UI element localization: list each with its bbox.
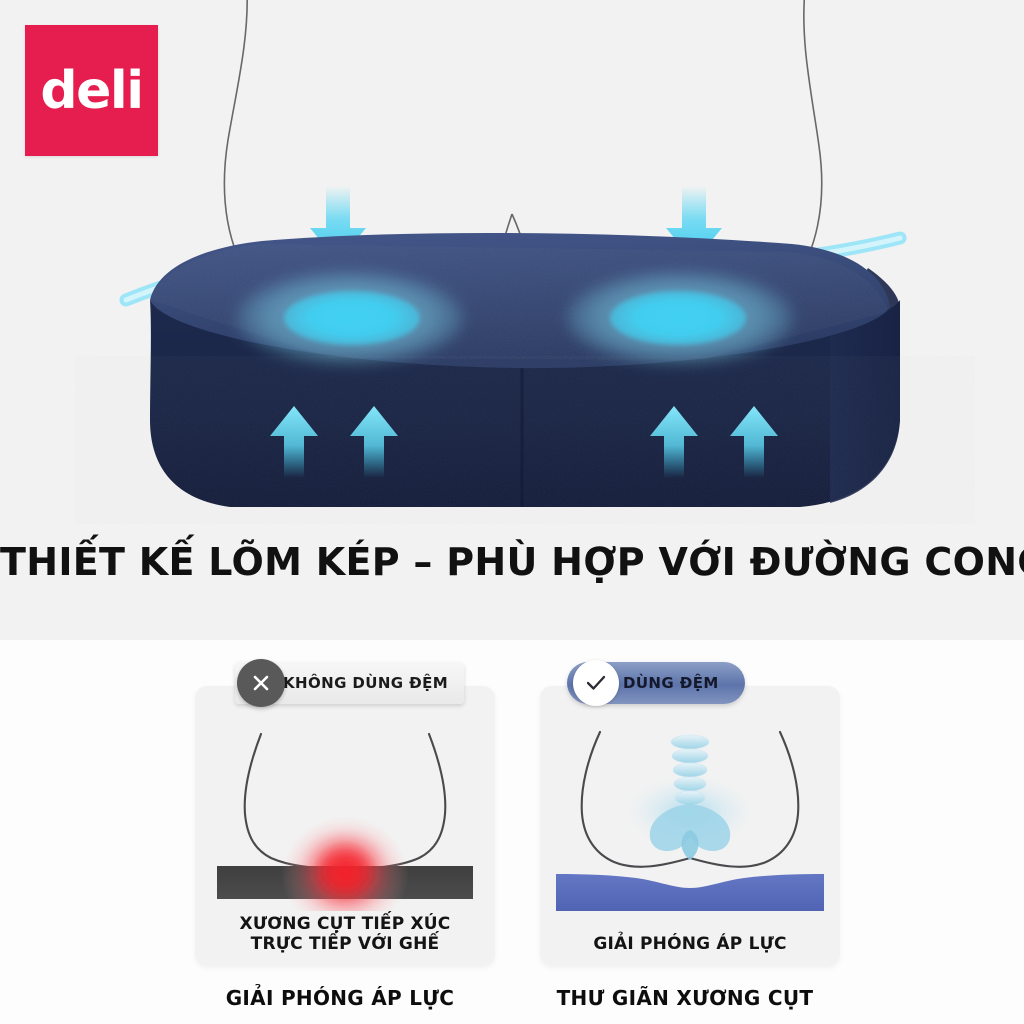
comparison-column-with-cushion: GIẢI PHÓNG ÁP LỰC DÙNG ĐỆM THƯ GIÃN XƯƠN…: [505, 640, 865, 1024]
card-caption-line1: GIẢI PHÓNG ÁP LỰC: [540, 934, 840, 954]
card-caption-line1: XƯƠNG CỤT TIẾP XÚC: [195, 914, 495, 934]
status-badge-without-cushion: KHÔNG DÙNG ĐỆM: [235, 662, 464, 704]
badge-label-without: KHÔNG DÙNG ĐỆM: [283, 674, 448, 692]
brand-wordmark: deli: [40, 65, 142, 117]
cross-icon: [237, 659, 285, 707]
footer-label-with: THƯ GIÃN XƯƠNG CỤT: [505, 986, 865, 1010]
comparison-section: XƯƠNG CỤT TIẾP XÚC TRỰC TIẾP VỚI GHẾ KHÔ…: [0, 640, 1024, 1024]
spine-illustration: [671, 735, 709, 805]
illustration-hips-on-hard-seat: [195, 726, 495, 911]
illustration-hips-on-contoured-cushion: [540, 726, 840, 911]
hero-section: deli: [0, 0, 1024, 640]
pressure-zone-left: [236, 271, 464, 365]
card-without-cushion: XƯƠNG CỤT TIẾP XÚC TRỰC TIẾP VỚI GHẾ: [195, 686, 495, 966]
status-badge-with-cushion: DÙNG ĐỆM: [567, 662, 745, 704]
check-icon: [573, 660, 619, 706]
comparison-column-without-cushion: XƯƠNG CỤT TIẾP XÚC TRỰC TIẾP VỚI GHẾ KHÔ…: [160, 640, 520, 1024]
card-caption-without: XƯƠNG CỤT TIẾP XÚC TRỰC TIẾP VỚI GHẾ: [195, 914, 495, 954]
page-title: THIẾT KẾ LÕM KÉP – PHÙ HỢP VỚI ĐƯỜNG CON…: [0, 540, 1024, 584]
footer-label-without: GIẢI PHÓNG ÁP LỰC: [160, 986, 520, 1010]
seat-cushion: [140, 230, 910, 510]
pressure-zone-right: [566, 271, 794, 365]
card-caption-with: GIẢI PHÓNG ÁP LỰC: [540, 934, 840, 954]
card-caption-line2: TRỰC TIẾP VỚI GHẾ: [195, 934, 495, 954]
card-with-cushion: GIẢI PHÓNG ÁP LỰC: [540, 686, 840, 966]
badge-label-with: DÙNG ĐỆM: [623, 674, 719, 692]
brand-logo: deli: [25, 25, 158, 156]
